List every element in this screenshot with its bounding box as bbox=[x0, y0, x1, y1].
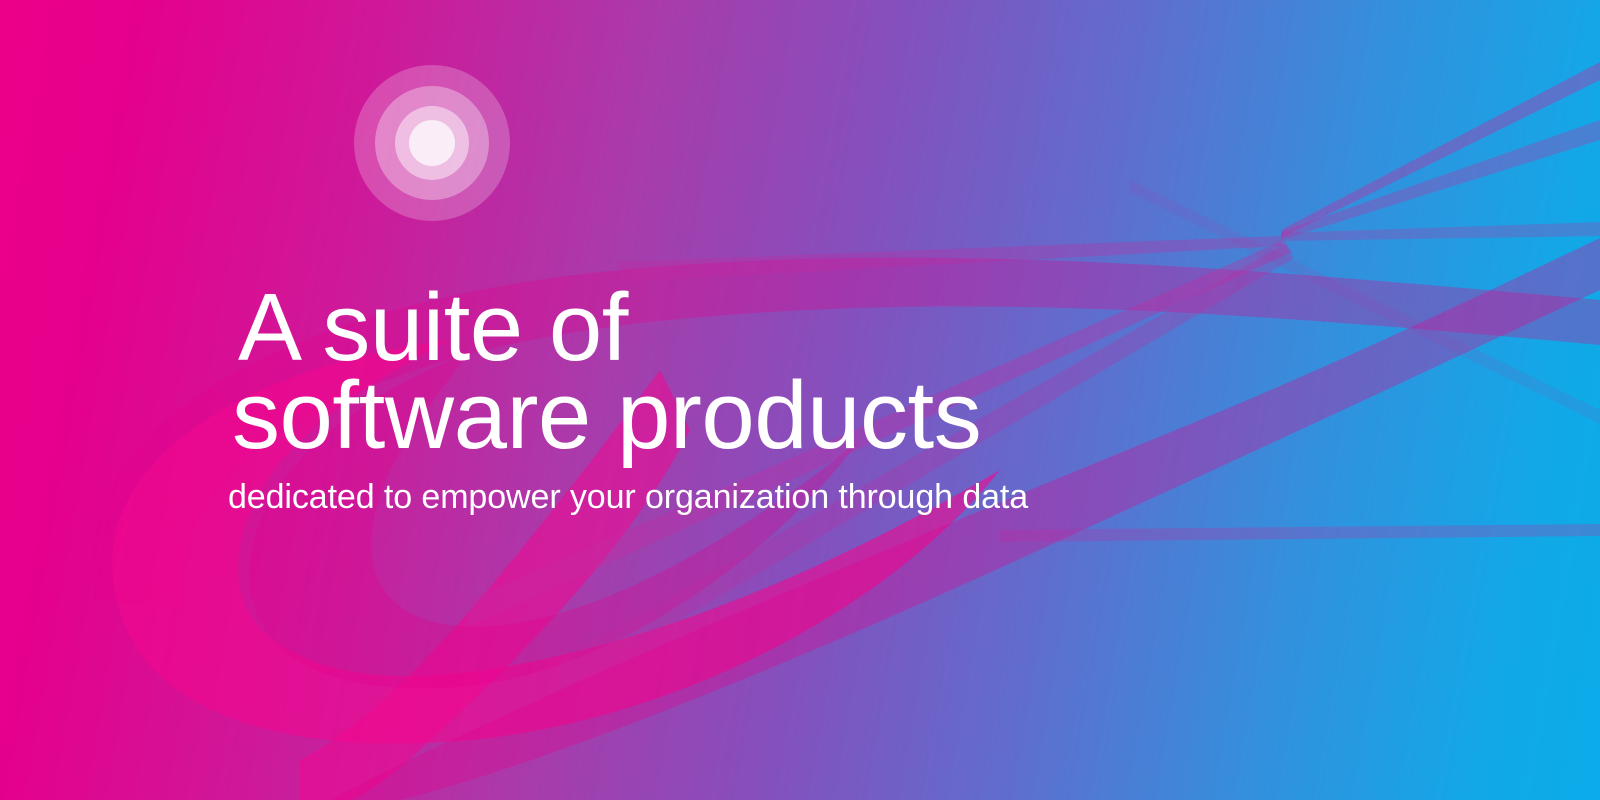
accent-line-2 bbox=[1281, 120, 1600, 240]
page-subtitle: dedicated to empower your organization t… bbox=[228, 479, 1332, 516]
concentric-circles-logo-icon bbox=[354, 65, 510, 221]
hero-copy-block: A suite of software products dedicated t… bbox=[232, 284, 1332, 516]
hero-banner: A suite of software products dedicated t… bbox=[0, 0, 1600, 800]
page-title: A suite of software products bbox=[232, 284, 1332, 461]
accent-line-7 bbox=[1000, 524, 1600, 542]
headline-line-1: A suite of bbox=[238, 284, 1332, 372]
logo-ring-4 bbox=[409, 120, 455, 166]
headline-line-2: software products bbox=[232, 372, 1332, 460]
